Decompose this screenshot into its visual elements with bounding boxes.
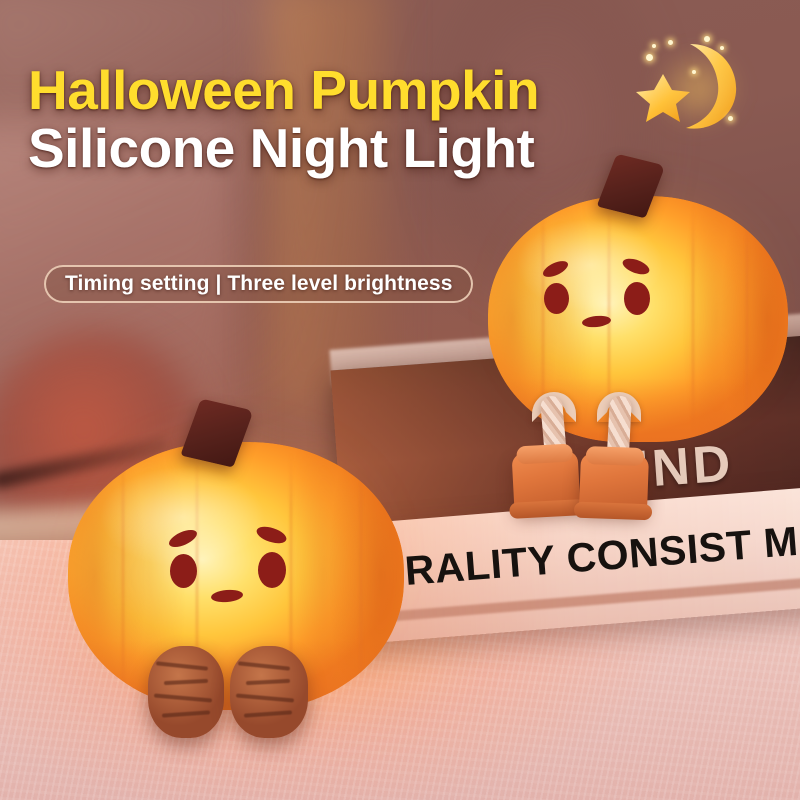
boot-right <box>579 453 649 513</box>
sparkle-icon <box>704 36 710 42</box>
headline-line-1: Halloween Pumpkin <box>28 62 539 119</box>
night-light-back[interactable] <box>488 158 788 442</box>
eyebrow-left-icon <box>167 526 200 550</box>
foot-stripe <box>154 693 212 702</box>
eye-left-icon <box>170 554 197 588</box>
eyebrow-right-icon <box>255 524 289 547</box>
sparkle-icon <box>720 46 724 50</box>
boot-cuff <box>586 446 644 466</box>
boot-sole <box>574 502 652 521</box>
foot-stripe <box>162 710 210 717</box>
moon-badge <box>628 28 768 148</box>
sparkle-icon <box>652 44 656 48</box>
foot-stripe <box>236 693 294 702</box>
mouth-icon <box>211 589 244 604</box>
foot-stripe <box>238 661 290 670</box>
boot-left <box>512 450 581 511</box>
boot-cuff <box>516 444 572 465</box>
eyebrow-left-icon <box>541 258 571 280</box>
foot-stripe <box>246 679 290 685</box>
sparkle-icon <box>728 116 733 121</box>
eyebrow-right-icon <box>621 256 652 278</box>
sparkle-icon <box>692 70 696 74</box>
eye-left-icon <box>544 283 569 314</box>
mouth-icon <box>582 315 612 329</box>
foot-stripe <box>244 710 292 717</box>
headline-line-2: Silicone Night Light <box>28 119 539 178</box>
feature-badge: Timing setting | Three level brightness <box>44 265 473 303</box>
eye-right-icon <box>258 552 286 588</box>
foot-left <box>148 646 224 738</box>
foot-stripe <box>156 661 208 670</box>
foot-stripe <box>164 679 208 685</box>
sparkle-icon <box>668 40 673 45</box>
pumpkin-face <box>164 526 314 618</box>
eye-right-icon <box>624 282 650 315</box>
sparkle-icon <box>646 54 653 61</box>
product-banner: LIND ORALITY CONSIST MA <box>0 0 800 800</box>
moon-glow <box>638 34 758 144</box>
pumpkin-face <box>540 258 674 342</box>
foot-right <box>230 646 308 738</box>
headline-block: Halloween Pumpkin Silicone Night Light <box>28 62 539 179</box>
